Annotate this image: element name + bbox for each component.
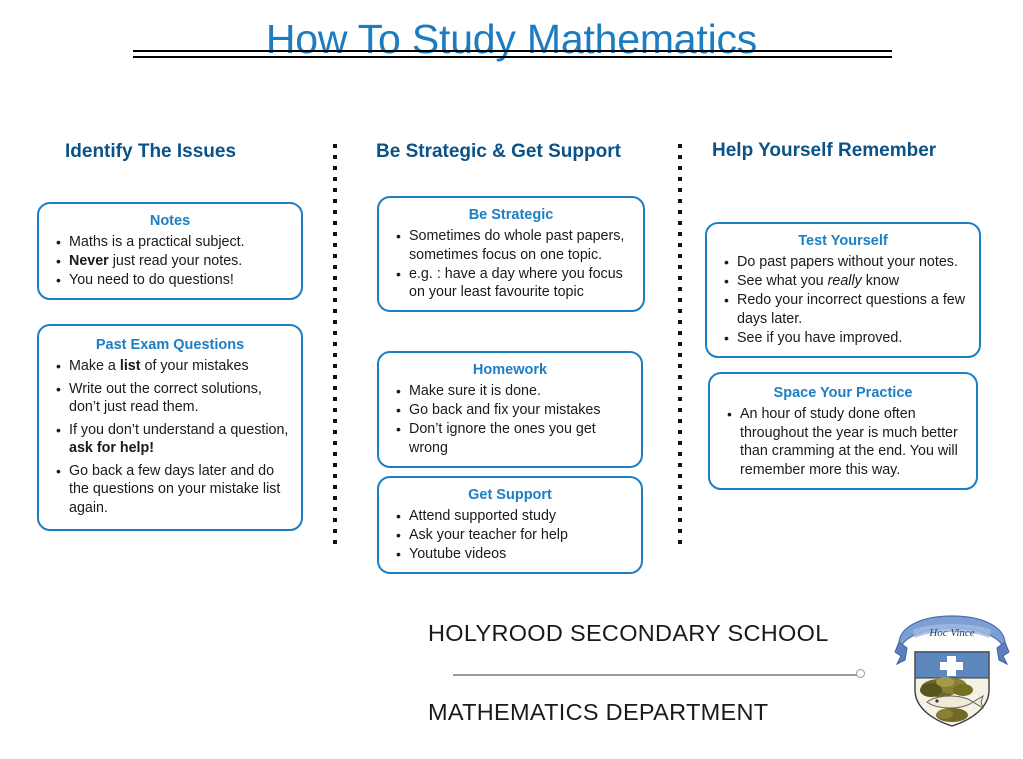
card-bullet-list: Sometimes do whole past papers, sometime… (389, 227, 633, 302)
card-title: Be Strategic (389, 206, 633, 224)
card-title: Get Support (389, 486, 631, 504)
bullet-item: See what you really know (737, 272, 969, 291)
title-underline-inner (133, 56, 892, 58)
card-title: Space Your Practice (720, 384, 966, 402)
column-header-help-yourself-remember: Help Yourself Remember (712, 140, 936, 162)
footer-school-name: HOLYROOD SECONDARY SCHOOL (428, 620, 829, 647)
bullet-item: Redo your incorrect questions a few days… (737, 291, 969, 328)
bullet-item: Ask your teacher for help (409, 526, 631, 545)
card-title: Past Exam Questions (49, 336, 291, 354)
card-bullet-list: Attend supported studyAsk your teacher f… (389, 507, 631, 564)
card-title: Homework (389, 361, 631, 379)
bullet-item: Maths is a practical subject. (69, 233, 291, 252)
bullet-item: You need to do questions! (69, 271, 291, 290)
crest-motto: Hoc Vince (928, 627, 974, 639)
title-underline-outer (133, 50, 892, 52)
bullet-item: e.g. : have a day where you focus on you… (409, 265, 633, 302)
card-title: Notes (49, 212, 291, 230)
bullet-item: See if you have improved. (737, 329, 969, 348)
bullet-item: Go back a few days later and do the ques… (69, 462, 291, 518)
column-divider-right (678, 144, 682, 544)
card-space-your-practice: Space Your Practice An hour of study don… (708, 372, 978, 490)
card-bullet-list: Make sure it is done.Go back and fix you… (389, 382, 631, 457)
card-past-exam-questions: Past Exam Questions Make a list of your … (37, 324, 303, 531)
school-crest-icon: Hoc Vince (893, 608, 1011, 730)
card-test-yourself: Test Yourself Do past papers without you… (705, 222, 981, 358)
card-bullet-list: Do past papers without your notes.See wh… (717, 253, 969, 347)
card-be-strategic: Be Strategic Sometimes do whole past pap… (377, 196, 645, 312)
card-bullet-list: Maths is a practical subject.Never just … (49, 233, 291, 290)
card-notes: Notes Maths is a practical subject.Never… (37, 202, 303, 300)
bullet-item: Go back and fix your mistakes (409, 401, 631, 420)
bullet-item: Never just read your notes. (69, 252, 291, 271)
footer-divider-endpoint-dot (856, 669, 865, 678)
column-divider-left (333, 144, 337, 544)
bullet-item: Sometimes do whole past papers, sometime… (409, 227, 633, 264)
bullet-item: Write out the correct solutions, don’t j… (69, 380, 291, 417)
bullet-item: Don’t ignore the ones you get wrong (409, 420, 631, 457)
bullet-item: If you don’t understand a question, ask … (69, 421, 291, 458)
column-header-be-strategic-get-support: Be Strategic & Get Support (376, 141, 621, 163)
footer-divider-line (453, 674, 859, 676)
bullet-item: Make a list of your mistakes (69, 357, 291, 376)
card-homework: Homework Make sure it is done.Go back an… (377, 351, 643, 468)
bullet-item: Do past papers without your notes. (737, 253, 969, 272)
card-title: Test Yourself (717, 232, 969, 250)
column-header-identify-the-issues: Identify The Issues (65, 141, 236, 163)
card-bullet-list: Make a list of your mistakesWrite out th… (49, 357, 291, 517)
bullet-item: Youtube videos (409, 545, 631, 564)
footer-department-name: MATHEMATICS DEPARTMENT (428, 699, 768, 726)
bullet-item: Attend supported study (409, 507, 631, 526)
card-bullet-list: An hour of study done often throughout t… (720, 405, 966, 479)
bullet-item: An hour of study done often throughout t… (740, 405, 966, 479)
card-get-support: Get Support Attend supported studyAsk yo… (377, 476, 643, 574)
bullet-item: Make sure it is done. (409, 382, 631, 401)
